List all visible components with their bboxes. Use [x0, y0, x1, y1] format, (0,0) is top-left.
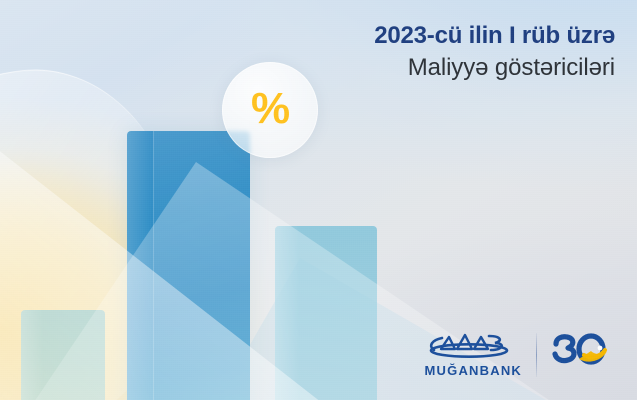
muganbank-logo-icon [425, 332, 521, 362]
financial-results-banner: % 2023-cü ilin I rüb üzrə Maliyyə göstər… [0, 0, 637, 400]
headline-line-1: 2023-cü ilin I rüb üzrə [374, 22, 615, 50]
logo-lockup: MUĞANBANK [425, 332, 613, 378]
percent-icon: % [251, 87, 289, 131]
brand-block: MUĞANBANK [425, 332, 522, 378]
brand-wordmark: MUĞANBANK [425, 363, 522, 378]
logo-divider [536, 333, 537, 377]
headline-line-2: Maliyyə göstəriciləri [374, 52, 615, 83]
percent-badge: % [222, 62, 318, 158]
headline-block: 2023-cü ilin I rüb üzrə Maliyyə göstəric… [374, 22, 615, 84]
anniversary-30-icon [551, 333, 613, 377]
